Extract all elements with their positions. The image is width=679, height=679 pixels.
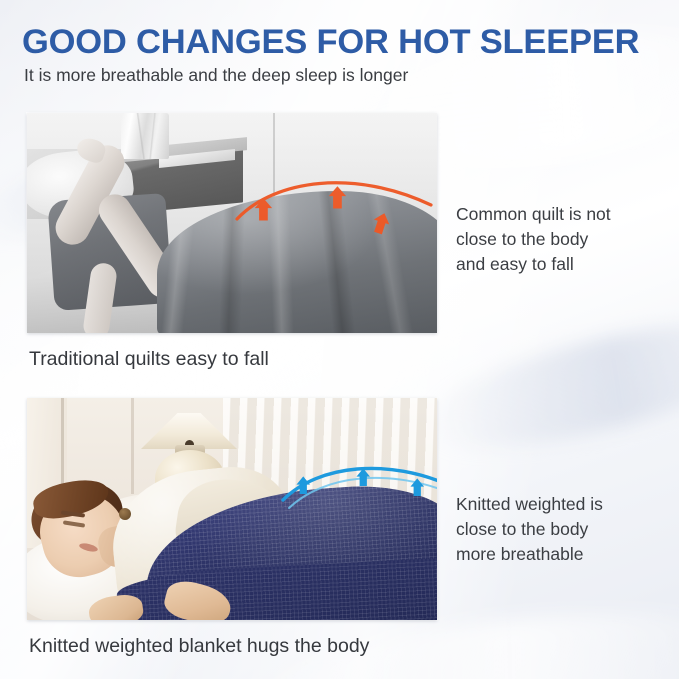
knitted-blanket-callout: Knitted weighted is close to the body mo… (456, 492, 666, 567)
background-streak (414, 298, 679, 472)
shirt-button (119, 508, 131, 520)
callout-line: more breathable (456, 542, 666, 567)
callout-line: close to the body (456, 517, 666, 542)
knitted-blanket-caption: Knitted weighted blanket hugs the body (29, 634, 369, 658)
traditional-quilt-photo (27, 113, 437, 333)
page-subtitle: It is more breathable and the deep sleep… (24, 64, 408, 86)
photo-tone-overlay (27, 113, 437, 333)
callout-line: close to the body (456, 227, 666, 252)
product-infographic-page: GOOD CHANGES FOR HOT SLEEPER It is more … (0, 0, 679, 679)
traditional-quilt-caption: Traditional quilts easy to fall (29, 347, 269, 371)
callout-line: and easy to fall (456, 252, 666, 277)
callout-line: Common quilt is not (456, 202, 666, 227)
knitted-blanket-photo (27, 398, 437, 620)
callout-line: Knitted weighted is (456, 492, 666, 517)
traditional-quilt-callout: Common quilt is not close to the body an… (456, 202, 666, 277)
page-title: GOOD CHANGES FOR HOT SLEEPER (22, 22, 667, 62)
wall-trim (131, 398, 134, 494)
